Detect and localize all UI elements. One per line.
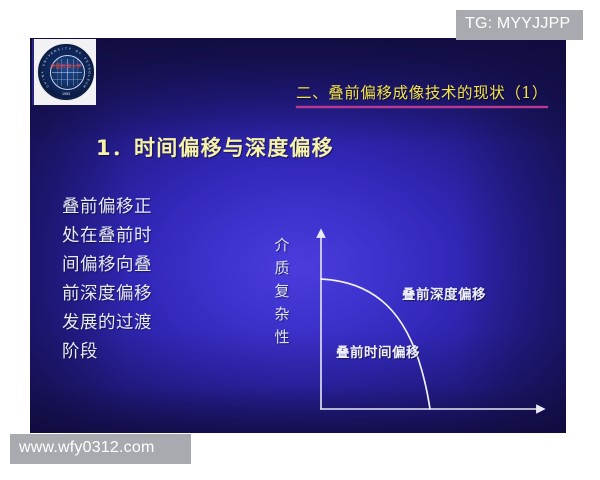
slide-heading: 二、叠前偏移成像技术的现状（1） (296, 81, 548, 108)
left-text-line: 发展的过渡 (62, 309, 212, 338)
seal-year: 1953 (39, 92, 93, 96)
left-text-line: 前深度偏移 (62, 280, 212, 309)
seal-globe-icon (50, 55, 85, 90)
site-watermark-banner: www.wfy0312.com (10, 434, 191, 464)
left-text-line: 处在叠前时 (62, 222, 212, 251)
y-axis-label-char: 介 (271, 234, 293, 257)
chart-annotation-prestack-depth-migration: 叠前深度偏移 (402, 283, 486, 303)
slide-heading-underline (296, 106, 548, 108)
left-text-line: 阶段 (62, 338, 212, 367)
chart-annotation-prestack-time-migration: 叠前时间偏移 (336, 341, 420, 361)
presentation-slide: CHINAUNIVERSITYOFPETROLEUM 中国石油大学 1953 二… (30, 38, 566, 433)
chart-x-axis-label: 计算资源 (348, 430, 430, 433)
y-axis-label-char: 杂 (271, 303, 293, 326)
chart-y-axis-label: 介 质 复 杂 性 (271, 234, 293, 349)
telegram-watermark-banner: TG: MYYJJPP (456, 10, 583, 40)
slide-heading-text: 二、叠前偏移成像技术的现状（1） (296, 81, 548, 103)
telegram-watermark-text: TG: MYYJJPP (465, 15, 570, 33)
y-axis-label-char: 复 (271, 280, 293, 303)
slide-subtitle: 1．时间偏移与深度偏移 (96, 132, 334, 162)
left-text-line: 叠前偏移正 (62, 193, 212, 222)
seal-center-text: 中国石油大学 (39, 63, 93, 70)
university-logo: CHINAUNIVERSITYOFPETROLEUM 中国石油大学 1953 (32, 39, 96, 105)
left-text-line: 间偏移向叠 (62, 251, 212, 280)
left-text-block: 叠前偏移正 处在叠前时 间偏移向叠 前深度偏移 发展的过渡 阶段 (62, 193, 212, 367)
site-watermark-text: www.wfy0312.com (19, 439, 155, 457)
y-axis-label-char: 质 (271, 257, 293, 280)
migration-tradeoff-chart: 介 质 复 杂 性 计算资源 叠前深度偏移 叠前时间偏移 (230, 178, 560, 433)
seal-icon: CHINAUNIVERSITYOFPETROLEUM 中国石油大学 1953 (38, 44, 94, 100)
y-axis-label-char: 性 (271, 326, 293, 349)
